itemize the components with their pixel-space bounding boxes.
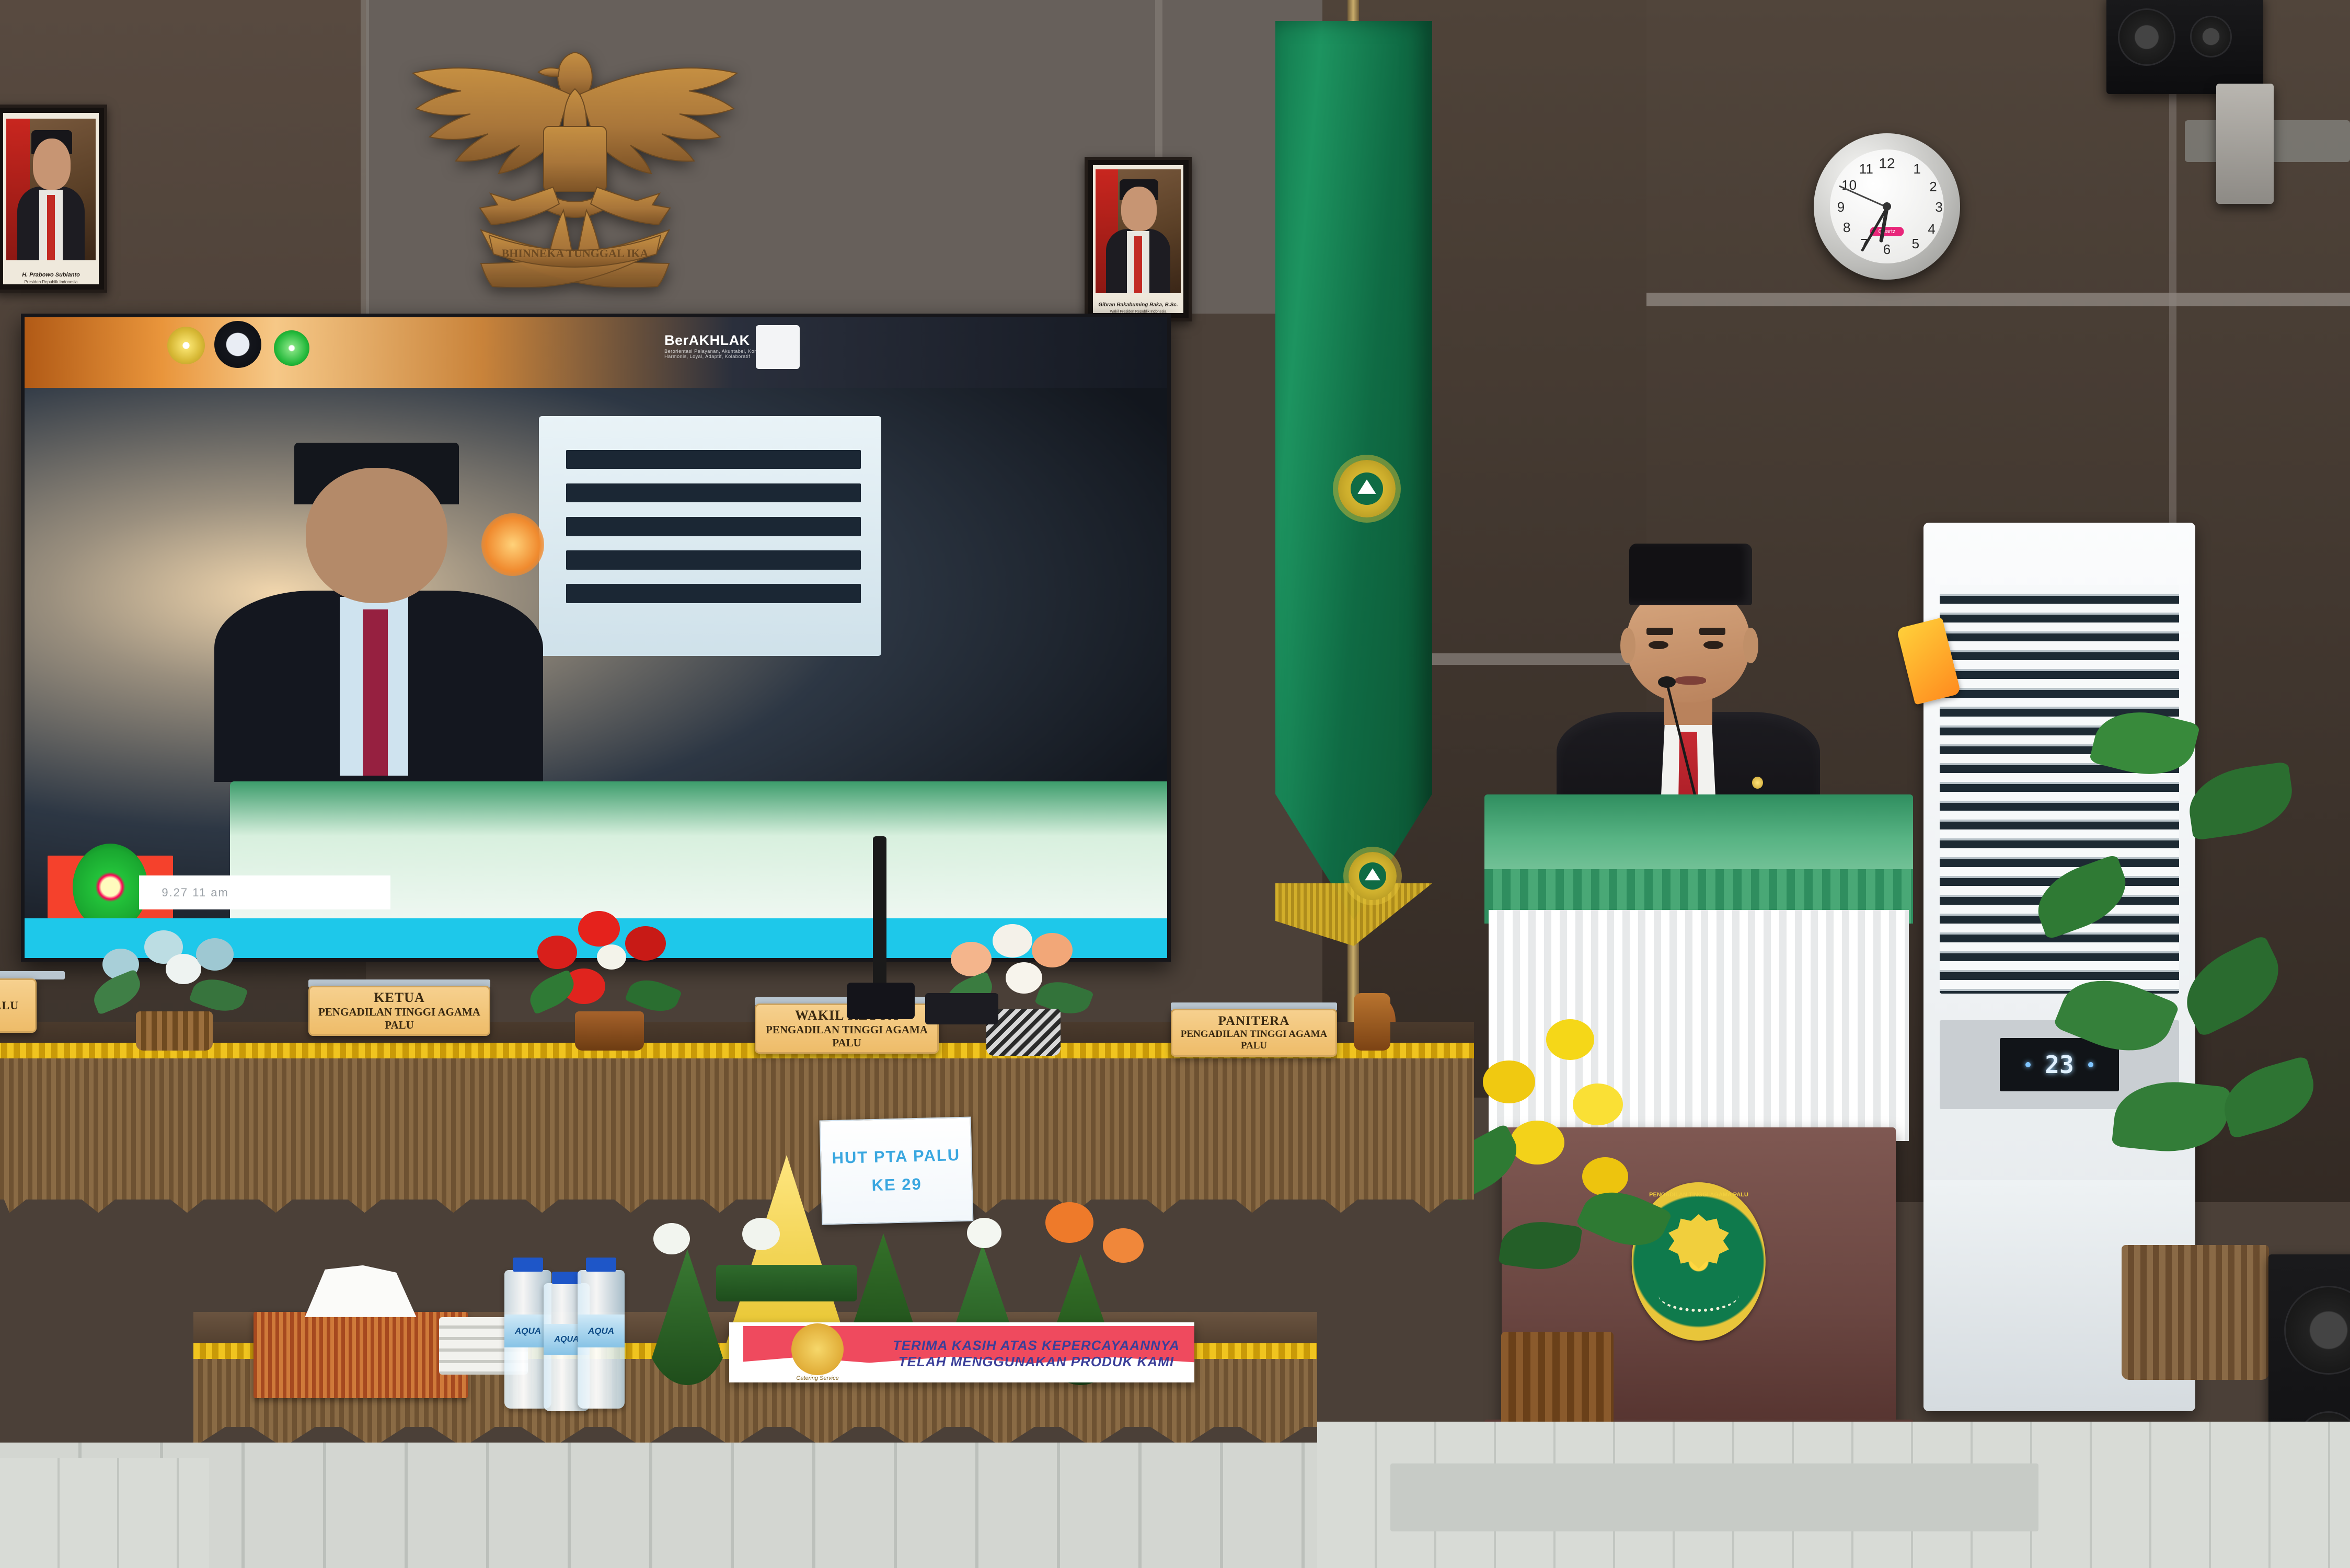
green-seal-logo-icon <box>274 330 309 366</box>
clock-numeral-1: 1 <box>1913 161 1920 177</box>
nameplate-subtitle: PENGADILAN TINGGI AGAMA PALU <box>1172 1029 1335 1052</box>
speaker-driver <box>2190 16 2232 57</box>
podium-seal-gear-icon <box>1666 1214 1731 1271</box>
flower-peach <box>951 942 992 976</box>
banner-text: TERIMA KASIH ATAS KEPERCAYAANNYA TELAH M… <box>888 1331 1185 1376</box>
conference-hall-scene: BHINNEKA TUNGGAL IKA H. Prabowo Subianto… <box>0 0 2350 1568</box>
clock-center-pin <box>1883 202 1891 211</box>
tumpeng-banana-leaf-band <box>716 1265 857 1301</box>
vice-president-name-caption: Gibran Rakabuming Raka, B.Sc. <box>1088 302 1189 308</box>
catering-thank-you-banner: Catering Service TERIMA KASIH ATAS KEPER… <box>729 1322 1194 1382</box>
bouquet-vase <box>575 1011 644 1051</box>
wall-trim-horizontal-right <box>1646 293 2350 306</box>
desk-microphone-head <box>873 836 886 993</box>
wall-speaker-bracket <box>2216 84 2274 204</box>
clock-numeral-12: 12 <box>1879 155 1895 172</box>
ac-louver <box>566 450 861 469</box>
screen-display-area: BerAKHLAK Berorientasi Pelayanan, Akunta… <box>25 317 1167 958</box>
flower-red <box>625 926 666 961</box>
yellow-flower-bouquet <box>1443 1019 1667 1479</box>
nameplate-title: PANITERA <box>1218 1014 1290 1029</box>
bottle-cap <box>513 1258 543 1272</box>
bouquet-leaf <box>1498 1216 1582 1275</box>
catering-logo-mark-icon <box>791 1323 843 1375</box>
speaker-driver <box>2118 8 2175 66</box>
speaker-brow-right <box>1699 628 1725 635</box>
led-video-screen: BerAKHLAK Berorientasi Pelayanan, Akunta… <box>21 314 1171 962</box>
president-office-caption: Presiden Republik Indonesia <box>0 280 104 284</box>
hut-sign-line1: HUT PTA PALU <box>832 1146 960 1168</box>
floor-podium-platform <box>1390 1463 2038 1531</box>
banner-line2: TELAH MENGGUNAKAN PRODUK KAMI <box>898 1354 1174 1370</box>
hut-pta-palu-sign: HUT PTA PALU KE 29 <box>820 1116 974 1225</box>
president-name-caption: H. Prabowo Subianto <box>0 272 104 278</box>
flower-white <box>166 954 201 984</box>
plant-leaf <box>2184 762 2297 841</box>
screen-feed-speaker <box>264 468 493 776</box>
orange-flower-garnish <box>1045 1202 1093 1243</box>
nameplate-panitera[interactable]: PANITERA PENGADILAN TINGGI AGAMA PALU <box>1171 1009 1337 1057</box>
feed-speaker-tie <box>363 609 388 776</box>
flower-peach <box>1032 933 1073 967</box>
clock-numeral-6: 6 <box>1883 241 1891 258</box>
plant-leaf <box>2112 1076 2231 1158</box>
portrait-tie <box>47 195 55 260</box>
flower-yellow <box>1483 1060 1535 1103</box>
blue-rose-bouquet <box>89 920 256 1051</box>
gavel-icon <box>1354 993 1390 1051</box>
bouquet-basket <box>136 1011 213 1051</box>
wall-clock: 12 1 2 3 4 5 6 7 8 9 10 11 Quartz <box>1814 133 1960 280</box>
vice-president-office-caption: Wakil Presiden Republik Indonesia <box>1088 310 1189 314</box>
nameplate-ketua[interactable]: KETUA PENGADILAN TINGGI AGAMA PALU <box>308 986 490 1036</box>
garuda-pancasila-icon: BHINNEKA TUNGGAL IKA <box>387 16 763 287</box>
bottle-cap <box>586 1258 616 1272</box>
ac-louver <box>566 550 861 570</box>
nameplate-subtitle: PENGADILAN TINGGI AGAMA PALU <box>310 1006 489 1032</box>
nameplate-title: KETUA <box>374 990 424 1006</box>
president-photo <box>6 119 96 260</box>
portrait-face <box>33 139 71 190</box>
flower-white <box>597 944 626 970</box>
screen-lower-third-caption-bar: 9.27 11 am <box>139 875 390 909</box>
screen-feed-ac-unit <box>539 416 882 655</box>
bottle-label: AQUA <box>578 1315 625 1348</box>
orange-flower-garnish <box>1103 1228 1144 1263</box>
ac-louver <box>566 584 861 603</box>
speaker-driver <box>2284 1286 2350 1375</box>
flag-lower-emblem-icon <box>1349 852 1397 900</box>
peach-rose-bouquet <box>941 909 1103 1056</box>
plant-leaf <box>2173 935 2293 1038</box>
desk-microphone-base <box>847 983 915 1019</box>
hut-sign-line2: KE 29 <box>871 1175 922 1195</box>
clock-numeral-2: 2 <box>1929 179 1937 195</box>
podium-seal-arc <box>1658 1277 1739 1312</box>
plant-leaf <box>2089 700 2200 785</box>
ceiling-loudspeaker <box>2106 0 2263 94</box>
white-flower-garnish <box>967 1218 1001 1248</box>
nameplate-title: PALU <box>0 999 19 1012</box>
flag-emblem-icon <box>1338 460 1396 517</box>
bouquet-leaf <box>88 969 146 1015</box>
plant-pot <box>2122 1245 2269 1380</box>
red-flower-bouquet <box>528 899 685 1051</box>
vice-president-photo <box>1096 169 1180 293</box>
clock-numeral-8: 8 <box>1843 220 1850 236</box>
portrait-tie <box>1134 236 1142 293</box>
garuda-motto-text: BHINNEKA TUNGGAL IKA <box>502 247 649 260</box>
clock-numeral-11: 11 <box>1859 161 1873 177</box>
flower-white <box>993 924 1032 958</box>
portrait-face <box>1121 187 1157 231</box>
desk-equipment-box <box>925 993 998 1024</box>
catering-logo-caption: Catering Service <box>796 1375 838 1381</box>
microphone-head-icon <box>1658 676 1676 688</box>
clock-numeral-5: 5 <box>1912 236 1919 252</box>
floor-strip-left <box>0 1458 209 1568</box>
aqua-bottle: AQUA <box>578 1270 625 1409</box>
white-flower-garnish <box>653 1223 690 1254</box>
ac-louver <box>566 483 861 503</box>
flower-red <box>578 911 620 947</box>
berakhlak-label: BerAKHLAK <box>664 332 750 348</box>
clock-numeral-3: 3 <box>1935 199 1942 215</box>
bouquet-leaf <box>524 969 580 1014</box>
president-portrait-frame: H. Prabowo Subianto Presiden Republik In… <box>0 105 107 293</box>
beaded-tissue-box <box>254 1312 468 1398</box>
lens-flare <box>481 513 544 576</box>
ac-louver <box>566 517 861 536</box>
feed-speaker-face <box>306 468 447 603</box>
pta-palu-seal-icon <box>73 844 148 930</box>
catering-logo: Catering Service <box>776 1330 859 1375</box>
flower-white <box>1006 962 1042 994</box>
badilag-logo-icon <box>214 321 261 368</box>
speaker-brow-left <box>1646 628 1673 635</box>
white-flower-garnish <box>742 1218 780 1250</box>
flower-yellow <box>1573 1083 1623 1125</box>
bottle-cap <box>552 1272 581 1285</box>
screen-live-feed: 9.27 11 am <box>25 388 1167 958</box>
flower-yellow <box>1546 1019 1594 1060</box>
flower-blue <box>196 938 234 971</box>
flower-yellow <box>1582 1157 1628 1196</box>
screen-feed-caption: 9.27 11 am <box>162 886 228 900</box>
flower-yellow <box>1510 1121 1564 1165</box>
plant-leaf <box>2028 854 2136 940</box>
speaker-ear-right <box>1743 628 1758 663</box>
speaker-peci-cap <box>1629 544 1752 605</box>
wall-trim-vertical-left <box>361 0 369 324</box>
nameplate-left-partial[interactable]: PALU <box>0 978 37 1033</box>
nameplate-subtitle: PENGADILAN TINGGI AGAMA PALU <box>756 1023 937 1050</box>
vice-president-portrait-frame: Gibran Rakabuming Raka, B.Sc. Wakil Pres… <box>1085 157 1192 321</box>
plant-leaf <box>2053 964 2180 1068</box>
berakhlak-hash-icon <box>756 325 800 369</box>
flower-red <box>537 936 577 969</box>
banner-line1: TERIMA KASIH ATAS KEPERCAYAANNYA <box>893 1338 1180 1354</box>
plant-leaf <box>2216 1055 2323 1139</box>
clock-numeral-9: 9 <box>1837 199 1845 215</box>
clock-numeral-4: 4 <box>1928 221 1935 237</box>
